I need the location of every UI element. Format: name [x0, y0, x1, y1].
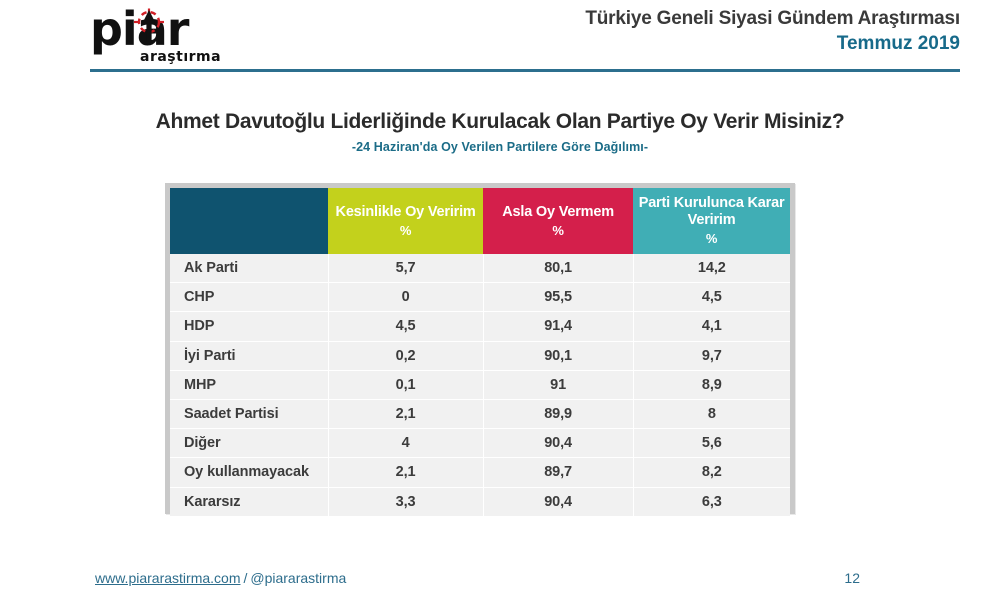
row-label: Saadet Partisi	[170, 399, 328, 428]
cell-never-vote: 90,1	[483, 341, 633, 370]
cell-decide-later: 8,2	[633, 458, 790, 487]
column-header-definitely-vote: Kesinlikle Oy Veririm %	[328, 188, 483, 254]
cell-definitely-vote: 0	[328, 283, 483, 312]
cell-decide-later: 9,7	[633, 341, 790, 370]
cell-decide-later: 8,9	[633, 370, 790, 399]
cell-definitely-vote: 2,1	[328, 399, 483, 428]
header-divider	[90, 69, 960, 72]
table-header-row: Kesinlikle Oy Veririm % Asla Oy Vermem %…	[170, 188, 790, 254]
cell-never-vote: 90,4	[483, 429, 633, 458]
page-number: 12	[844, 570, 860, 586]
row-label: Diğer	[170, 429, 328, 458]
cell-decide-later: 5,6	[633, 429, 790, 458]
column-header-never-vote-unit: %	[487, 222, 629, 239]
row-label: Kararsız	[170, 487, 328, 516]
cell-decide-later: 8	[633, 399, 790, 428]
footer-links: www.piararastirma.com/@piararastirma	[95, 570, 346, 586]
row-label: MHP	[170, 370, 328, 399]
brand-logo: piar araştırma	[90, 4, 320, 66]
column-header-decide-later-label: Parti Kurulunca Karar Veririm	[639, 195, 785, 228]
footer-separator: /	[243, 570, 247, 586]
column-header-party	[170, 188, 328, 254]
cell-never-vote: 80,1	[483, 254, 633, 283]
table-row: Oy kullanmayacak 2,1 89,7 8,2	[170, 458, 790, 487]
cell-definitely-vote: 4,5	[328, 312, 483, 341]
results-table-frame: Kesinlikle Oy Veririm % Asla Oy Vermem %…	[165, 183, 795, 514]
slide-subtitle: -24 Haziran'da Oy Verilen Partilere Göre…	[0, 140, 1000, 154]
row-label: CHP	[170, 283, 328, 312]
logo-tagline: araştırma	[140, 49, 221, 65]
cell-decide-later: 4,5	[633, 283, 790, 312]
table-row: Diğer 4 90,4 5,6	[170, 429, 790, 458]
table-row: MHP 0,1 91 8,9	[170, 370, 790, 399]
report-date: Temmuz 2019	[837, 33, 960, 55]
cell-definitely-vote: 0,2	[328, 341, 483, 370]
row-label: Oy kullanmayacak	[170, 458, 328, 487]
cell-decide-later: 14,2	[633, 254, 790, 283]
column-header-decide-later-unit: %	[637, 230, 786, 247]
cell-never-vote: 90,4	[483, 487, 633, 516]
row-label: HDP	[170, 312, 328, 341]
table-row: Saadet Partisi 2,1 89,9 8	[170, 399, 790, 428]
cell-definitely-vote: 5,7	[328, 254, 483, 283]
cell-never-vote: 91	[483, 370, 633, 399]
slide-title: Ahmet Davutoğlu Liderliğinde Kurulacak O…	[0, 110, 1000, 134]
column-header-never-vote: Asla Oy Vermem %	[483, 188, 633, 254]
cell-definitely-vote: 4	[328, 429, 483, 458]
table-row: HDP 4,5 91,4 4,1	[170, 312, 790, 341]
page-header: piar araştırma Türkiye Geneli Siyasi Gün…	[0, 0, 1000, 76]
table-row: İyi Parti 0,2 90,1 9,7	[170, 341, 790, 370]
table-row: Ak Parti 5,7 80,1 14,2	[170, 254, 790, 283]
cell-never-vote: 91,4	[483, 312, 633, 341]
cell-decide-later: 6,3	[633, 487, 790, 516]
table-row: Kararsız 3,3 90,4 6,3	[170, 487, 790, 516]
row-label: İyi Parti	[170, 341, 328, 370]
report-title: Türkiye Geneli Siyasi Gündem Araştırması	[585, 8, 960, 30]
cell-never-vote: 89,7	[483, 458, 633, 487]
page-footer: www.piararastirma.com/@piararastirma 12	[0, 566, 1000, 600]
row-label: Ak Parti	[170, 254, 328, 283]
cell-definitely-vote: 3,3	[328, 487, 483, 516]
column-header-definitely-vote-label: Kesinlikle Oy Veririm	[336, 204, 476, 220]
social-handle[interactable]: @piararastirma	[250, 570, 346, 586]
results-table: Kesinlikle Oy Veririm % Asla Oy Vermem %…	[170, 188, 790, 516]
target-crosshair-arrow-icon	[132, 8, 166, 42]
cell-definitely-vote: 2,1	[328, 458, 483, 487]
column-header-decide-later: Parti Kurulunca Karar Veririm %	[633, 188, 790, 254]
cell-never-vote: 89,9	[483, 399, 633, 428]
column-header-definitely-vote-unit: %	[332, 222, 479, 239]
website-link[interactable]: www.piararastirma.com	[95, 570, 240, 586]
cell-decide-later: 4,1	[633, 312, 790, 341]
table-row: CHP 0 95,5 4,5	[170, 283, 790, 312]
column-header-never-vote-label: Asla Oy Vermem	[502, 204, 614, 220]
cell-definitely-vote: 0,1	[328, 370, 483, 399]
cell-never-vote: 95,5	[483, 283, 633, 312]
